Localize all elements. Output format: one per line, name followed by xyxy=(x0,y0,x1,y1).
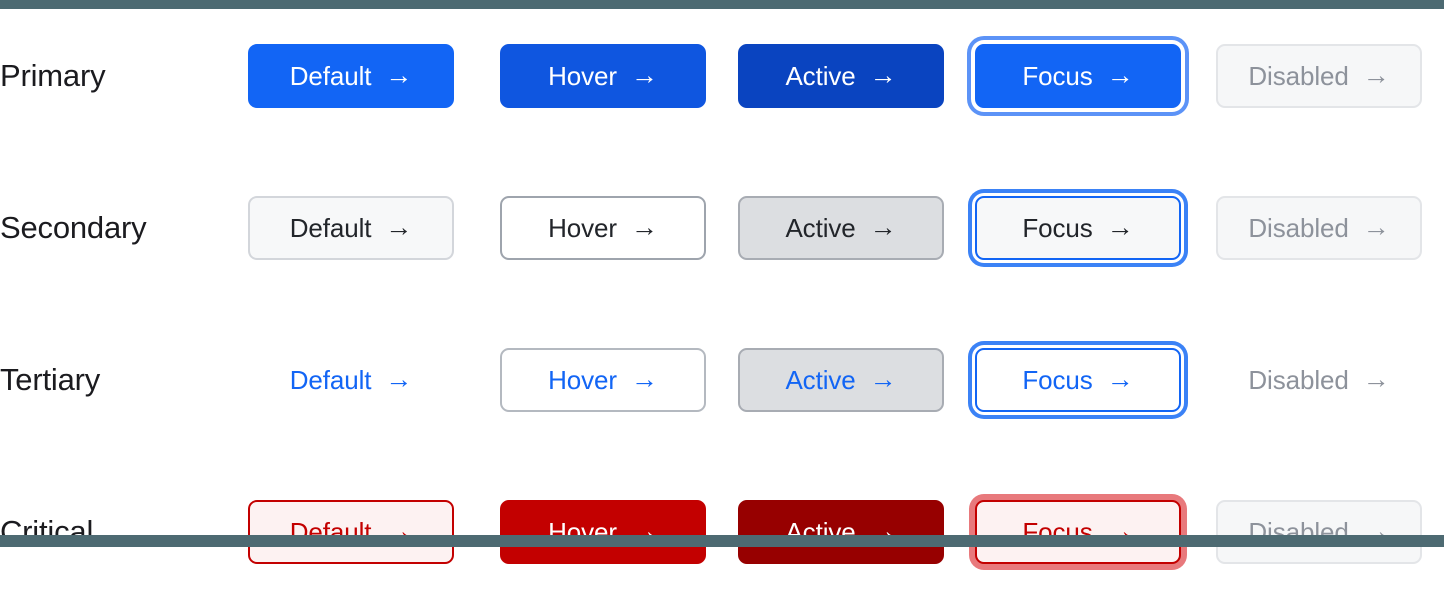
row-label-tertiary: Tertiary xyxy=(0,362,240,398)
arrow-right-icon: → xyxy=(1363,366,1390,393)
button-label: Focus xyxy=(1022,63,1092,89)
button-critical-disabled: Disabled→ xyxy=(1216,500,1422,564)
button-label: Hover xyxy=(548,367,617,393)
button-primary-disabled: Disabled→ xyxy=(1216,44,1422,108)
button-critical-hover[interactable]: Hover→ xyxy=(500,500,706,564)
arrow-right-icon: → xyxy=(385,62,412,89)
button-label: Hover xyxy=(548,215,617,241)
button-label: Default xyxy=(290,63,372,89)
arrow-right-icon: → xyxy=(870,366,897,393)
button-row-tertiary: TertiaryDefault→Hover→Active→Focus→Disab… xyxy=(0,304,1444,456)
button-secondary-hover[interactable]: Hover→ xyxy=(500,196,706,260)
button-label: Disabled xyxy=(1248,367,1348,393)
button-label: Focus xyxy=(1022,367,1092,393)
button-label: Active xyxy=(785,215,855,241)
cell-critical-hover: Hover→ xyxy=(500,456,738,608)
arrow-right-icon: → xyxy=(631,366,658,393)
button-primary-default[interactable]: Default→ xyxy=(248,44,454,108)
button-tertiary-disabled: Disabled→ xyxy=(1216,348,1422,412)
button-secondary-focus[interactable]: Focus→ xyxy=(975,196,1181,260)
arrow-right-icon: → xyxy=(1363,214,1390,241)
button-label: Hover xyxy=(548,63,617,89)
button-tertiary-hover[interactable]: Hover→ xyxy=(500,348,706,412)
button-label: Active xyxy=(785,367,855,393)
arrow-right-icon: → xyxy=(385,366,412,393)
arrow-right-icon: → xyxy=(631,62,658,89)
cell-critical-focus: Focus→ xyxy=(975,456,1216,608)
arrow-right-icon: → xyxy=(870,214,897,241)
cell-critical-default: Default→ xyxy=(248,456,500,608)
cell-critical-active: Active→ xyxy=(738,456,975,608)
cell-tertiary-disabled: Disabled→ xyxy=(1216,304,1444,456)
button-label: Default xyxy=(290,367,372,393)
button-row-primary: PrimaryDefault→Hover→Active→Focus→Disabl… xyxy=(0,0,1444,152)
button-primary-hover[interactable]: Hover→ xyxy=(500,44,706,108)
bottom-chrome-bar xyxy=(0,535,1444,547)
button-secondary-active[interactable]: Active→ xyxy=(738,196,944,260)
cell-primary-hover: Hover→ xyxy=(500,0,738,152)
cell-primary-disabled: Disabled→ xyxy=(1216,0,1444,152)
button-critical-focus[interactable]: Focus→ xyxy=(975,500,1181,564)
arrow-right-icon: → xyxy=(631,214,658,241)
button-label: Focus xyxy=(1022,215,1092,241)
cell-tertiary-focus: Focus→ xyxy=(975,304,1216,456)
cell-tertiary-active: Active→ xyxy=(738,304,975,456)
cell-primary-focus: Focus→ xyxy=(975,0,1216,152)
cell-secondary-focus: Focus→ xyxy=(975,152,1216,304)
button-tertiary-active[interactable]: Active→ xyxy=(738,348,944,412)
button-label: Default xyxy=(290,215,372,241)
arrow-right-icon: → xyxy=(1107,366,1134,393)
button-tertiary-focus[interactable]: Focus→ xyxy=(975,348,1181,412)
cell-secondary-hover: Hover→ xyxy=(500,152,738,304)
arrow-right-icon: → xyxy=(385,214,412,241)
cell-tertiary-default: Default→ xyxy=(248,304,500,456)
cell-tertiary-hover: Hover→ xyxy=(500,304,738,456)
button-critical-default[interactable]: Default→ xyxy=(248,500,454,564)
arrow-right-icon: → xyxy=(1107,62,1134,89)
cell-secondary-disabled: Disabled→ xyxy=(1216,152,1444,304)
button-secondary-default[interactable]: Default→ xyxy=(248,196,454,260)
button-row-critical: CriticalDefault→Hover→Active→Focus→Disab… xyxy=(0,456,1444,608)
arrow-right-icon: → xyxy=(1363,62,1390,89)
button-primary-focus[interactable]: Focus→ xyxy=(975,44,1181,108)
arrow-right-icon: → xyxy=(1107,214,1134,241)
cell-secondary-default: Default→ xyxy=(248,152,500,304)
cell-primary-default: Default→ xyxy=(248,0,500,152)
cell-secondary-active: Active→ xyxy=(738,152,975,304)
button-label: Disabled xyxy=(1248,215,1348,241)
button-row-secondary: SecondaryDefault→Hover→Active→Focus→Disa… xyxy=(0,152,1444,304)
button-primary-active[interactable]: Active→ xyxy=(738,44,944,108)
button-state-matrix: PrimaryDefault→Hover→Active→Focus→Disabl… xyxy=(0,9,1444,535)
cell-critical-disabled: Disabled→ xyxy=(1216,456,1444,608)
row-label-secondary: Secondary xyxy=(0,210,240,246)
row-label-primary: Primary xyxy=(0,58,240,94)
button-label: Active xyxy=(785,63,855,89)
button-critical-active[interactable]: Active→ xyxy=(738,500,944,564)
button-label: Disabled xyxy=(1248,63,1348,89)
button-secondary-disabled: Disabled→ xyxy=(1216,196,1422,260)
arrow-right-icon: → xyxy=(870,62,897,89)
cell-primary-active: Active→ xyxy=(738,0,975,152)
button-tertiary-default[interactable]: Default→ xyxy=(248,348,454,412)
